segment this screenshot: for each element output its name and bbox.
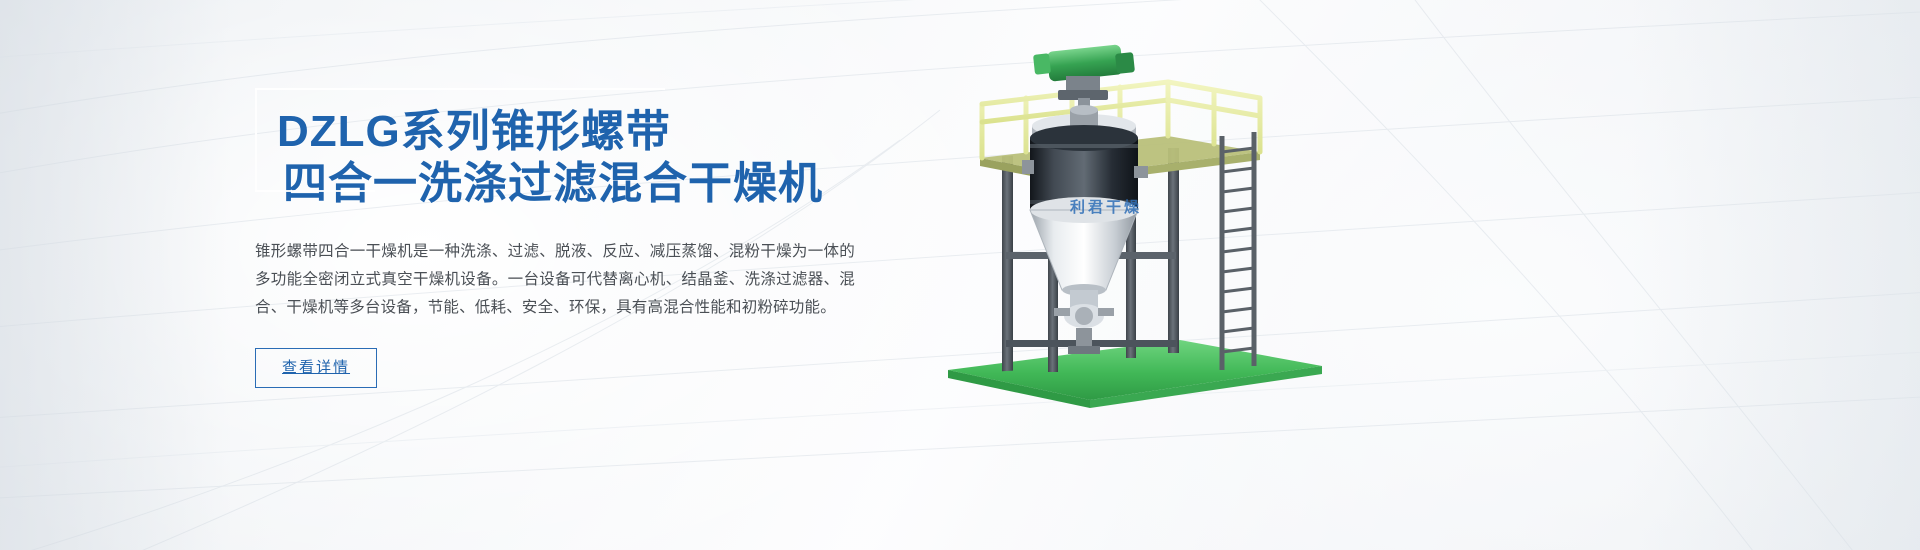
title-line-2: 四合一洗涤过滤混合干燥机 [283,158,895,210]
title-line-1: DZLG系列锥形螺带 [277,106,895,158]
frame-bottom-line [255,190,375,192]
ladder-rungs-icon [1222,148,1254,352]
page-title: DZLG系列锥形螺带 四合一洗涤过滤混合干燥机 [277,106,895,210]
hero-content: DZLG系列锥形螺带 四合一洗涤过滤混合干燥机 锥形螺带四合一干燥机是一种洗涤、… [255,88,895,388]
title-frame: DZLG系列锥形螺带 四合一洗涤过滤混合干燥机 [255,88,895,216]
frame-left-bracket [255,88,269,192]
product-description: 锥形螺带四合一干燥机是一种洗涤、过滤、脱液、反应、减压蒸馏、混粉干燥为一体的多功… [255,238,855,322]
product-illustration [930,40,1350,420]
hero-banner: DZLG系列锥形螺带 四合一洗涤过滤混合干燥机 锥形螺带四合一干燥机是一种洗涤、… [0,0,1920,550]
view-details-button[interactable]: 查看详情 [255,348,377,388]
image-watermark: 利君干燥 [1070,196,1142,217]
frame-top-line [255,88,665,90]
